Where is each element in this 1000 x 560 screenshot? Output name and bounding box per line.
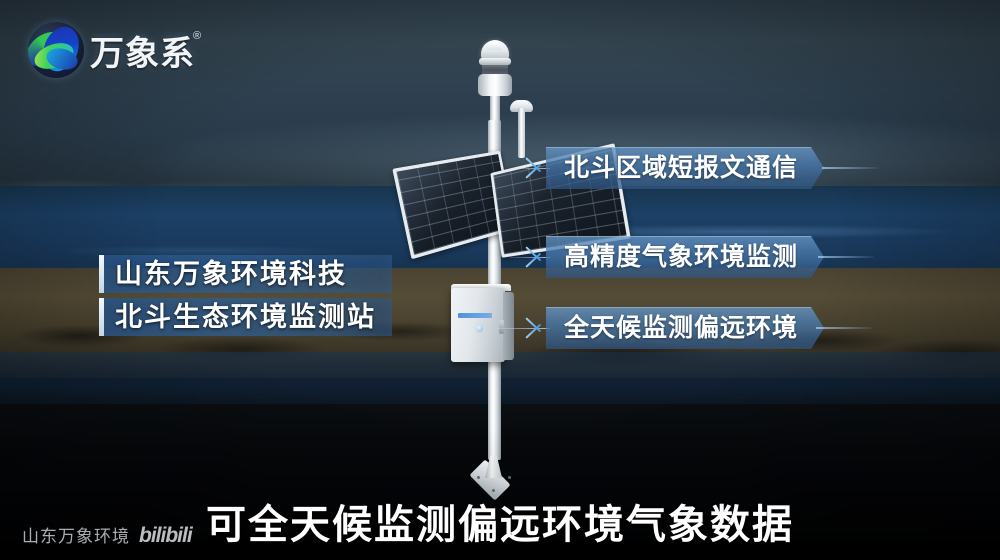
chevron-left-icon xyxy=(524,147,546,189)
globe-swirl-icon xyxy=(28,22,84,78)
watermark-channel: 山东万象环境 xyxy=(22,522,130,547)
trademark-symbol: ® xyxy=(193,30,201,42)
watermark-platform: bilibili xyxy=(139,524,192,548)
brand-name: 万象系 xyxy=(90,26,195,75)
callout-badge[interactable]: 高精度气象环境监测 xyxy=(546,236,824,278)
callout-2: 高精度气象环境监测 xyxy=(524,236,824,278)
title-line-1: 山东万象环境科技 xyxy=(99,255,392,293)
callout-3: 全天候监测偏远环境 xyxy=(524,307,824,349)
distant-mountains xyxy=(0,148,1000,190)
title-panel: 山东万象环境科技 北斗生态环境监测站 xyxy=(99,255,392,341)
video-frame: 万象系 ® 山东万象环境科技 北斗生态环境监测站 北斗区域短报文通信 高精度气象… xyxy=(0,0,1000,560)
callout-1: 北斗区域短报文通信 xyxy=(524,147,824,189)
callout-badge[interactable]: 北斗区域短报文通信 xyxy=(546,147,824,189)
callout-label: 高精度气象环境监测 xyxy=(564,245,798,270)
callout-label: 全天候监测偏远环境 xyxy=(564,316,798,341)
badge-tail-line xyxy=(822,167,878,169)
badge-tail-line xyxy=(818,256,874,258)
badge-tail-line xyxy=(816,327,872,329)
callout-badge[interactable]: 全天候监测偏远环境 xyxy=(546,307,824,349)
watermark: 山东万象环境 bilibili xyxy=(22,522,192,548)
chevron-left-icon xyxy=(524,307,546,349)
title-text: 北斗生态环境监测站 xyxy=(115,304,376,331)
callout-label: 北斗区域短报文通信 xyxy=(564,156,798,181)
brand-logo: 万象系 ® xyxy=(28,22,209,78)
title-line-2: 北斗生态环境监测站 xyxy=(99,298,392,336)
title-text: 山东万象环境科技 xyxy=(115,261,347,288)
chevron-left-icon xyxy=(524,236,546,278)
leader-dot xyxy=(476,325,483,332)
